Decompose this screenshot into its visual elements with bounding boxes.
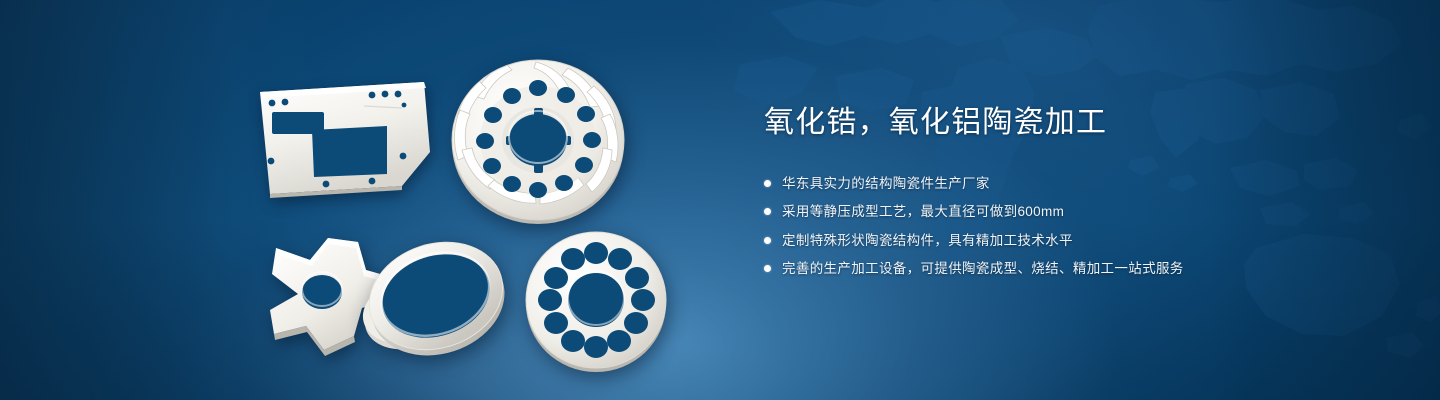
bullet-dot-icon bbox=[764, 265, 771, 272]
list-item: 采用等静压成型工艺，最大直径可做到600mm bbox=[764, 202, 1384, 222]
feature-text: 采用等静压成型工艺，最大直径可做到600mm bbox=[782, 202, 1064, 222]
hero-banner: 氧化锆，氧化铝陶瓷加工 华东具实力的结构陶瓷件生产厂家 采用等静压成型工艺，最大… bbox=[0, 0, 1440, 400]
page-title: 氧化锆，氧化铝陶瓷加工 bbox=[764, 104, 1384, 142]
banner-copy: 氧化锆，氧化铝陶瓷加工 华东具实力的结构陶瓷件生产厂家 采用等静压成型工艺，最大… bbox=[764, 104, 1384, 288]
ceramic-ring-part bbox=[350, 232, 515, 362]
list-item: 完善的生产加工设备，可提供陶瓷成型、烧结、精加工一站式服务 bbox=[764, 259, 1384, 279]
feature-text: 华东具实力的结构陶瓷件生产厂家 bbox=[782, 174, 990, 194]
ceramic-perforated-disc-part bbox=[522, 228, 670, 372]
list-item: 定制特殊形状陶瓷结构件，具有精加工技术水平 bbox=[764, 231, 1384, 251]
bullet-dot-icon bbox=[764, 180, 771, 187]
list-item: 华东具实力的结构陶瓷件生产厂家 bbox=[764, 174, 1384, 194]
feature-text: 完善的生产加工设备，可提供陶瓷成型、烧结、精加工一站式服务 bbox=[782, 259, 1184, 279]
bullet-dot-icon bbox=[764, 208, 771, 215]
feature-list: 华东具实力的结构陶瓷件生产厂家 采用等静压成型工艺，最大直径可做到600mm 定… bbox=[764, 174, 1384, 279]
product-image-cluster bbox=[0, 0, 720, 400]
ceramic-plate-part bbox=[252, 78, 432, 198]
ceramic-impeller-part bbox=[448, 52, 628, 224]
bullet-dot-icon bbox=[764, 237, 771, 244]
feature-text: 定制特殊形状陶瓷结构件，具有精加工技术水平 bbox=[782, 231, 1073, 251]
